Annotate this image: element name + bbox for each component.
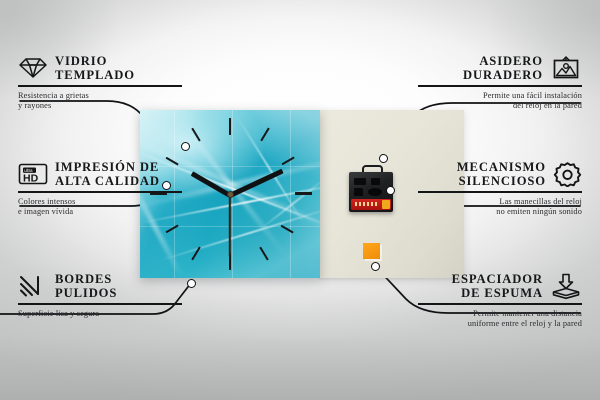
feature-description: Permite una fácil instalación del reloj … <box>418 91 582 112</box>
feature-title: VIDRIO TEMPLADO <box>55 54 135 82</box>
polished-edges-icon <box>18 274 48 298</box>
divider <box>418 303 582 305</box>
divider <box>18 85 182 87</box>
divider <box>418 85 582 87</box>
clock-second-hand <box>229 195 231 257</box>
feature-title: ESPACIADOR DE ESPUMA <box>452 272 543 300</box>
feature-asidero-duradero: ASIDERO DURADERO Permite una fácil insta… <box>418 54 582 111</box>
mechanism-detail <box>371 178 380 185</box>
feature-mecanismo-silencioso: MECANISMO SILENCIOSO Las manecillas del … <box>418 160 582 217</box>
picture-frame-icon <box>550 55 582 82</box>
connector-dot-bordes <box>187 279 196 288</box>
divider <box>18 191 182 193</box>
foam-spacer <box>363 243 380 259</box>
mechanism-detail <box>354 188 363 196</box>
feature-title: ASIDERO DURADERO <box>463 54 543 82</box>
connector-dot-mecanismo <box>386 186 395 195</box>
clock-tick-3 <box>295 192 312 195</box>
connector-dot-asidero <box>379 154 388 163</box>
feature-espaciador-de-espuma: ESPACIADOR DE ESPUMA Permite mantener un… <box>418 272 582 329</box>
feature-title: IMPRESIÓN DE ALTA CALIDAD <box>55 160 160 188</box>
feature-description: Las manecillas del reloj no emiten ningú… <box>418 197 582 218</box>
feature-vidrio-templado: VIDRIO TEMPLADO Resistencia a grietas y … <box>18 54 182 111</box>
infographic-canvas: VIDRIO TEMPLADO Resistencia a grietas y … <box>0 0 600 400</box>
feature-impresion-alta-calidad: ultra HD IMPRESIÓN DE ALTA CALIDAD Color… <box>18 160 182 217</box>
feature-description: Permite mantener una distancia uniforme … <box>418 309 582 330</box>
mechanism-detail <box>354 178 366 185</box>
mechanism-shaft <box>368 188 382 196</box>
battery-positive-terminal <box>382 200 390 209</box>
battery <box>351 199 391 210</box>
connector-dot-espaciador <box>371 262 380 271</box>
clock-center-hub <box>227 191 234 198</box>
feature-description: Colores intensos e imagen vívida <box>18 197 182 218</box>
gear-icon <box>553 161 582 187</box>
feature-bordes-pulidos: BORDES PULIDOS Superficie lisa y segura <box>18 272 182 319</box>
divider <box>18 303 182 305</box>
foam-spacer-icon <box>550 273 582 300</box>
feature-title: BORDES PULIDOS <box>55 272 117 300</box>
feature-description: Resistencia a grietas y rayones <box>18 91 182 112</box>
feature-description: Superficie lisa y segura <box>18 309 182 319</box>
feature-title: MECANISMO SILENCIOSO <box>457 160 546 188</box>
ultra-hd-icon: ultra HD <box>18 162 48 186</box>
divider <box>418 191 582 193</box>
battery-label <box>355 202 379 206</box>
connector-dot-vidrio <box>181 142 190 151</box>
diamond-icon <box>18 56 48 80</box>
ultra-hd-icon-bottom-text: HD <box>23 173 39 185</box>
